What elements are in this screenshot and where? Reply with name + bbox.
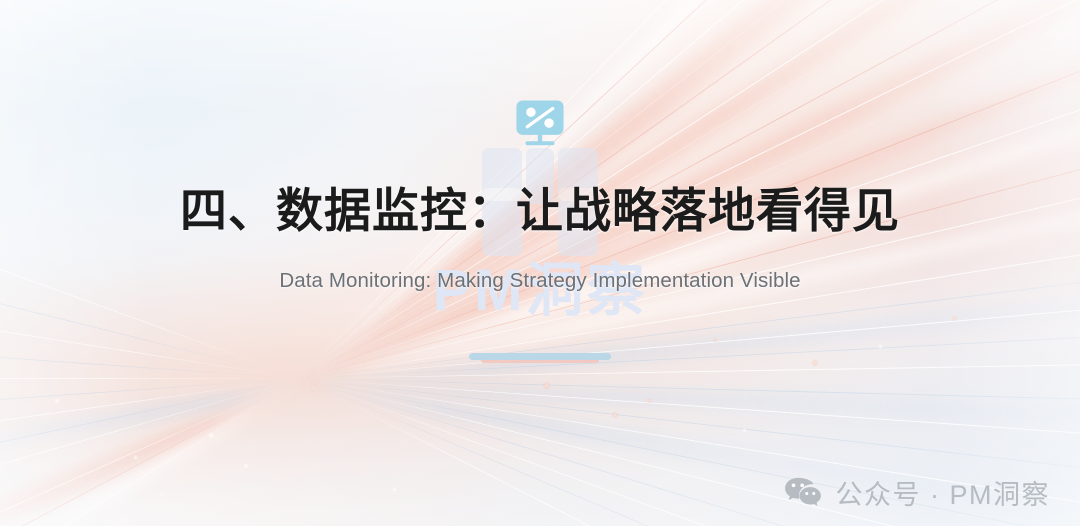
page-title: 四、数据监控：让战略落地看得见 [180, 183, 900, 238]
slide-canvas: PM洞察 四、数据监控：让战略落地看得见 Data Monitoring: Ma… [0, 0, 1080, 526]
footer-watermark: 公众号 · PM洞察 [783, 473, 1051, 512]
accent-divider [469, 353, 611, 360]
wechat-icon [783, 476, 823, 510]
slide-content: 四、数据监控：让战略落地看得见 Data Monitoring: Making … [0, 0, 1080, 526]
monitor-percent-icon [511, 95, 569, 153]
footer-watermark-text: 公众号 · PM洞察 [836, 473, 1051, 512]
page-subtitle: Data Monitoring: Making Strategy Impleme… [279, 269, 800, 293]
